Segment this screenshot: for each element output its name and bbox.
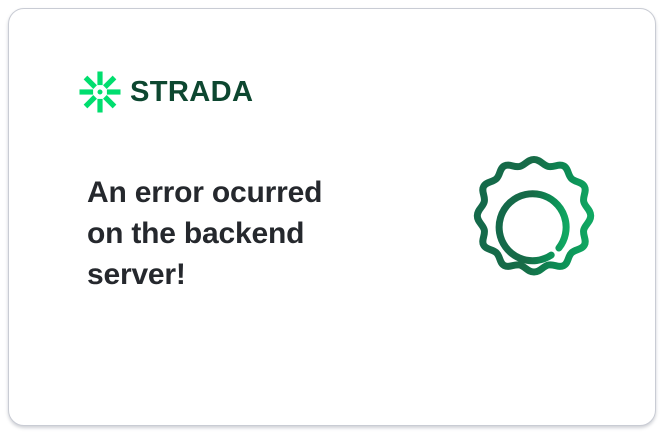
gear-outer-cog [477, 160, 590, 273]
error-message-line-1: An error ocurred [87, 172, 387, 213]
strada-wordmark-text: STRADA [130, 77, 253, 107]
error-message: An error ocurred on the backend server! [87, 172, 387, 295]
gear-icon [453, 150, 615, 312]
error-message-line-3: server! [87, 254, 387, 295]
gear-inner-ring [499, 194, 566, 261]
error-message-line-2: on the backend [87, 213, 387, 254]
error-page: STRADA An error ocurred on the backend s… [0, 0, 666, 436]
error-card: STRADA An error ocurred on the backend s… [8, 8, 656, 426]
brand-logo: STRADA [79, 71, 335, 113]
strada-asterisk-icon [79, 71, 121, 113]
strada-wordmark: STRADA [130, 77, 335, 107]
